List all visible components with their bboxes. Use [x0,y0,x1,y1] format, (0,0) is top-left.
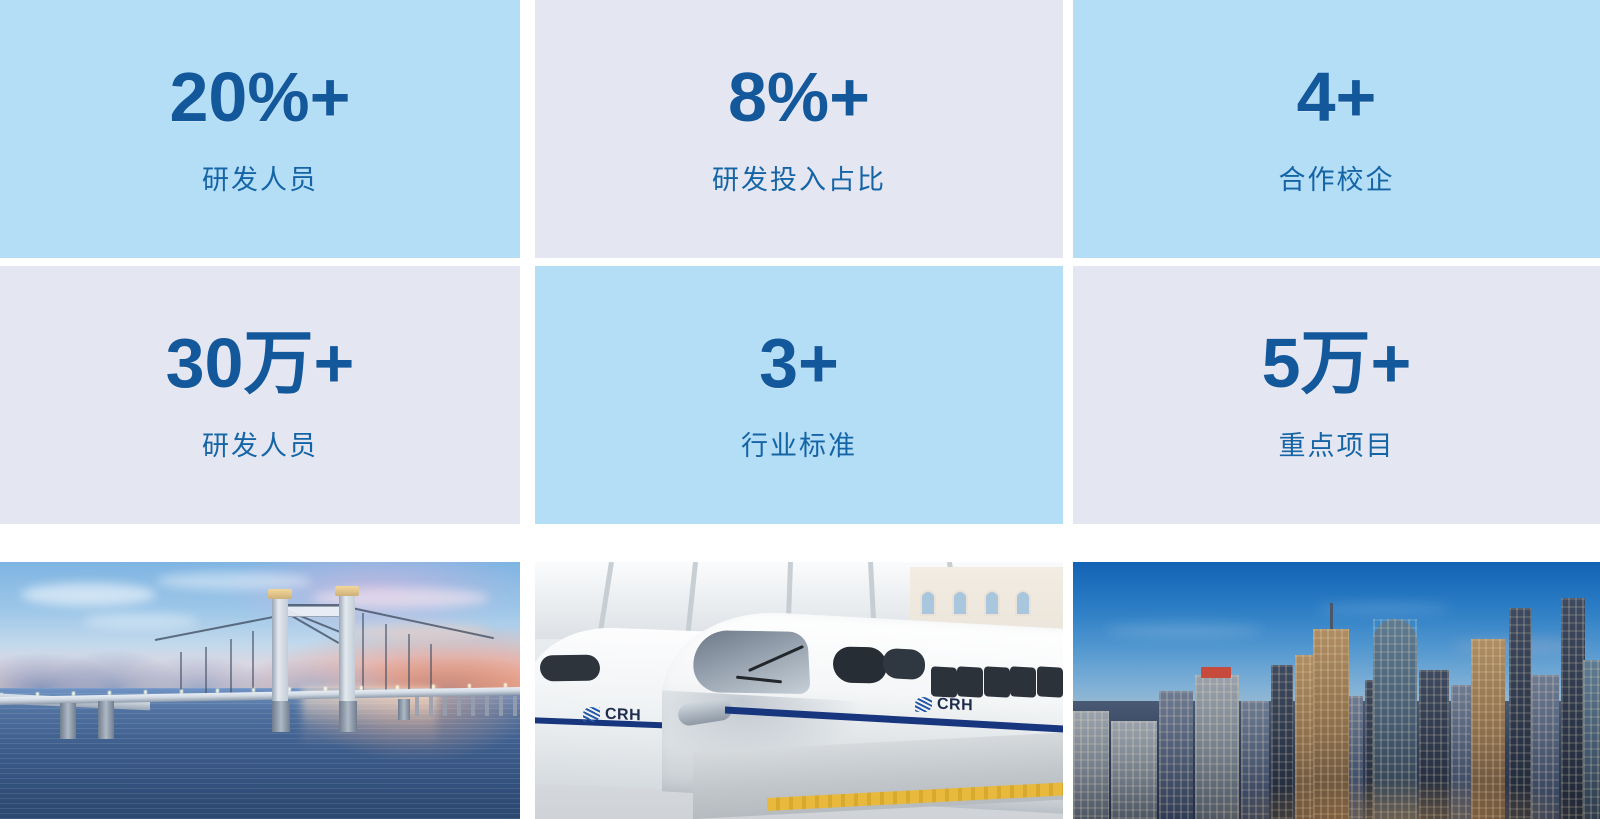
stat-card-rd-investment-ratio[interactable]: 8%+ 研发投入占比 [535,0,1063,258]
bridge-photo[interactable] [0,562,520,819]
stat-value: 30万+ [166,328,355,398]
arched-window [952,590,968,616]
cloud [1105,624,1263,637]
train-scene: CRH CRH [535,562,1063,819]
stat-label: 重点项目 [1279,424,1395,463]
stat-card-partner-institutions[interactable]: 4+ 合作校企 [1073,0,1600,258]
stats-and-photos-page: 20%+ 研发人员 8%+ 研发投入占比 4+ 合作校企 30万+ 研发人员 3… [0,0,1600,819]
stats-grid: 20%+ 研发人员 8%+ 研发投入占比 4+ 合作校企 30万+ 研发人员 3… [0,0,1600,524]
crh-logo-primary: CRH [915,694,973,715]
street-glow [1073,762,1600,819]
crh-logo-secondary: CRH [583,705,641,726]
photo-row: CRH CRH [0,562,1600,819]
distant-hills [0,647,520,688]
train-photo[interactable]: CRH CRH [535,562,1063,819]
stat-card-rd-staff-count[interactable]: 30万+ 研发人员 [0,266,520,524]
bridge-scene [0,562,520,819]
stat-value: 3+ [759,328,839,398]
passenger-window [1010,667,1036,698]
stat-label: 合作校企 [1279,158,1395,197]
hanger [362,613,364,693]
passenger-window [984,667,1010,698]
hanger [385,624,387,693]
passenger-window [931,667,957,698]
cab-side-window [833,646,888,683]
stat-card-key-projects[interactable]: 5万+ 重点项目 [1073,266,1600,524]
arched-window [920,590,936,616]
crh-mark-icon [915,696,932,712]
bridge-pier [339,701,357,732]
bridge-pier [60,703,76,739]
stat-value: 4+ [1297,62,1377,132]
windshield [692,630,811,694]
arched-window [984,590,1000,616]
stat-label: 研发人员 [202,424,318,463]
stat-value: 20%+ [170,62,351,132]
bridge-tower [339,590,355,706]
cloud [21,583,156,606]
bridge-pier [272,701,290,732]
stat-value: 8%+ [728,62,870,132]
stat-card-industry-standards[interactable]: 3+ 行业标准 [535,266,1063,524]
hanger [205,647,207,693]
crh-logo-text: CRH [937,695,973,715]
crh-mark-icon [583,706,600,722]
second-train-window [540,654,601,681]
stat-card-rd-staff-percent[interactable]: 20%+ 研发人员 [0,0,520,258]
hanger [180,652,182,693]
bridge-pier [98,701,114,740]
stat-label: 研发投入占比 [712,158,886,197]
hanger [230,639,232,693]
door-window [883,648,925,680]
passenger-window [1037,667,1063,698]
passenger-window [957,667,983,698]
cloud [83,613,197,628]
city-photo[interactable] [1073,562,1600,819]
bridge-pier [398,699,410,720]
tower-lamp [268,589,292,599]
crh-logo-text: CRH [605,706,641,726]
tower-lamp [335,586,359,596]
bridge-tower [272,593,288,706]
city-scene [1073,562,1600,819]
hanger [252,631,254,693]
trestle [415,696,520,717]
stat-label: 行业标准 [741,424,857,463]
stat-value: 5万+ [1262,328,1412,398]
arched-window [1015,590,1031,616]
stat-label: 研发人员 [202,158,318,197]
billboard [1201,667,1231,678]
